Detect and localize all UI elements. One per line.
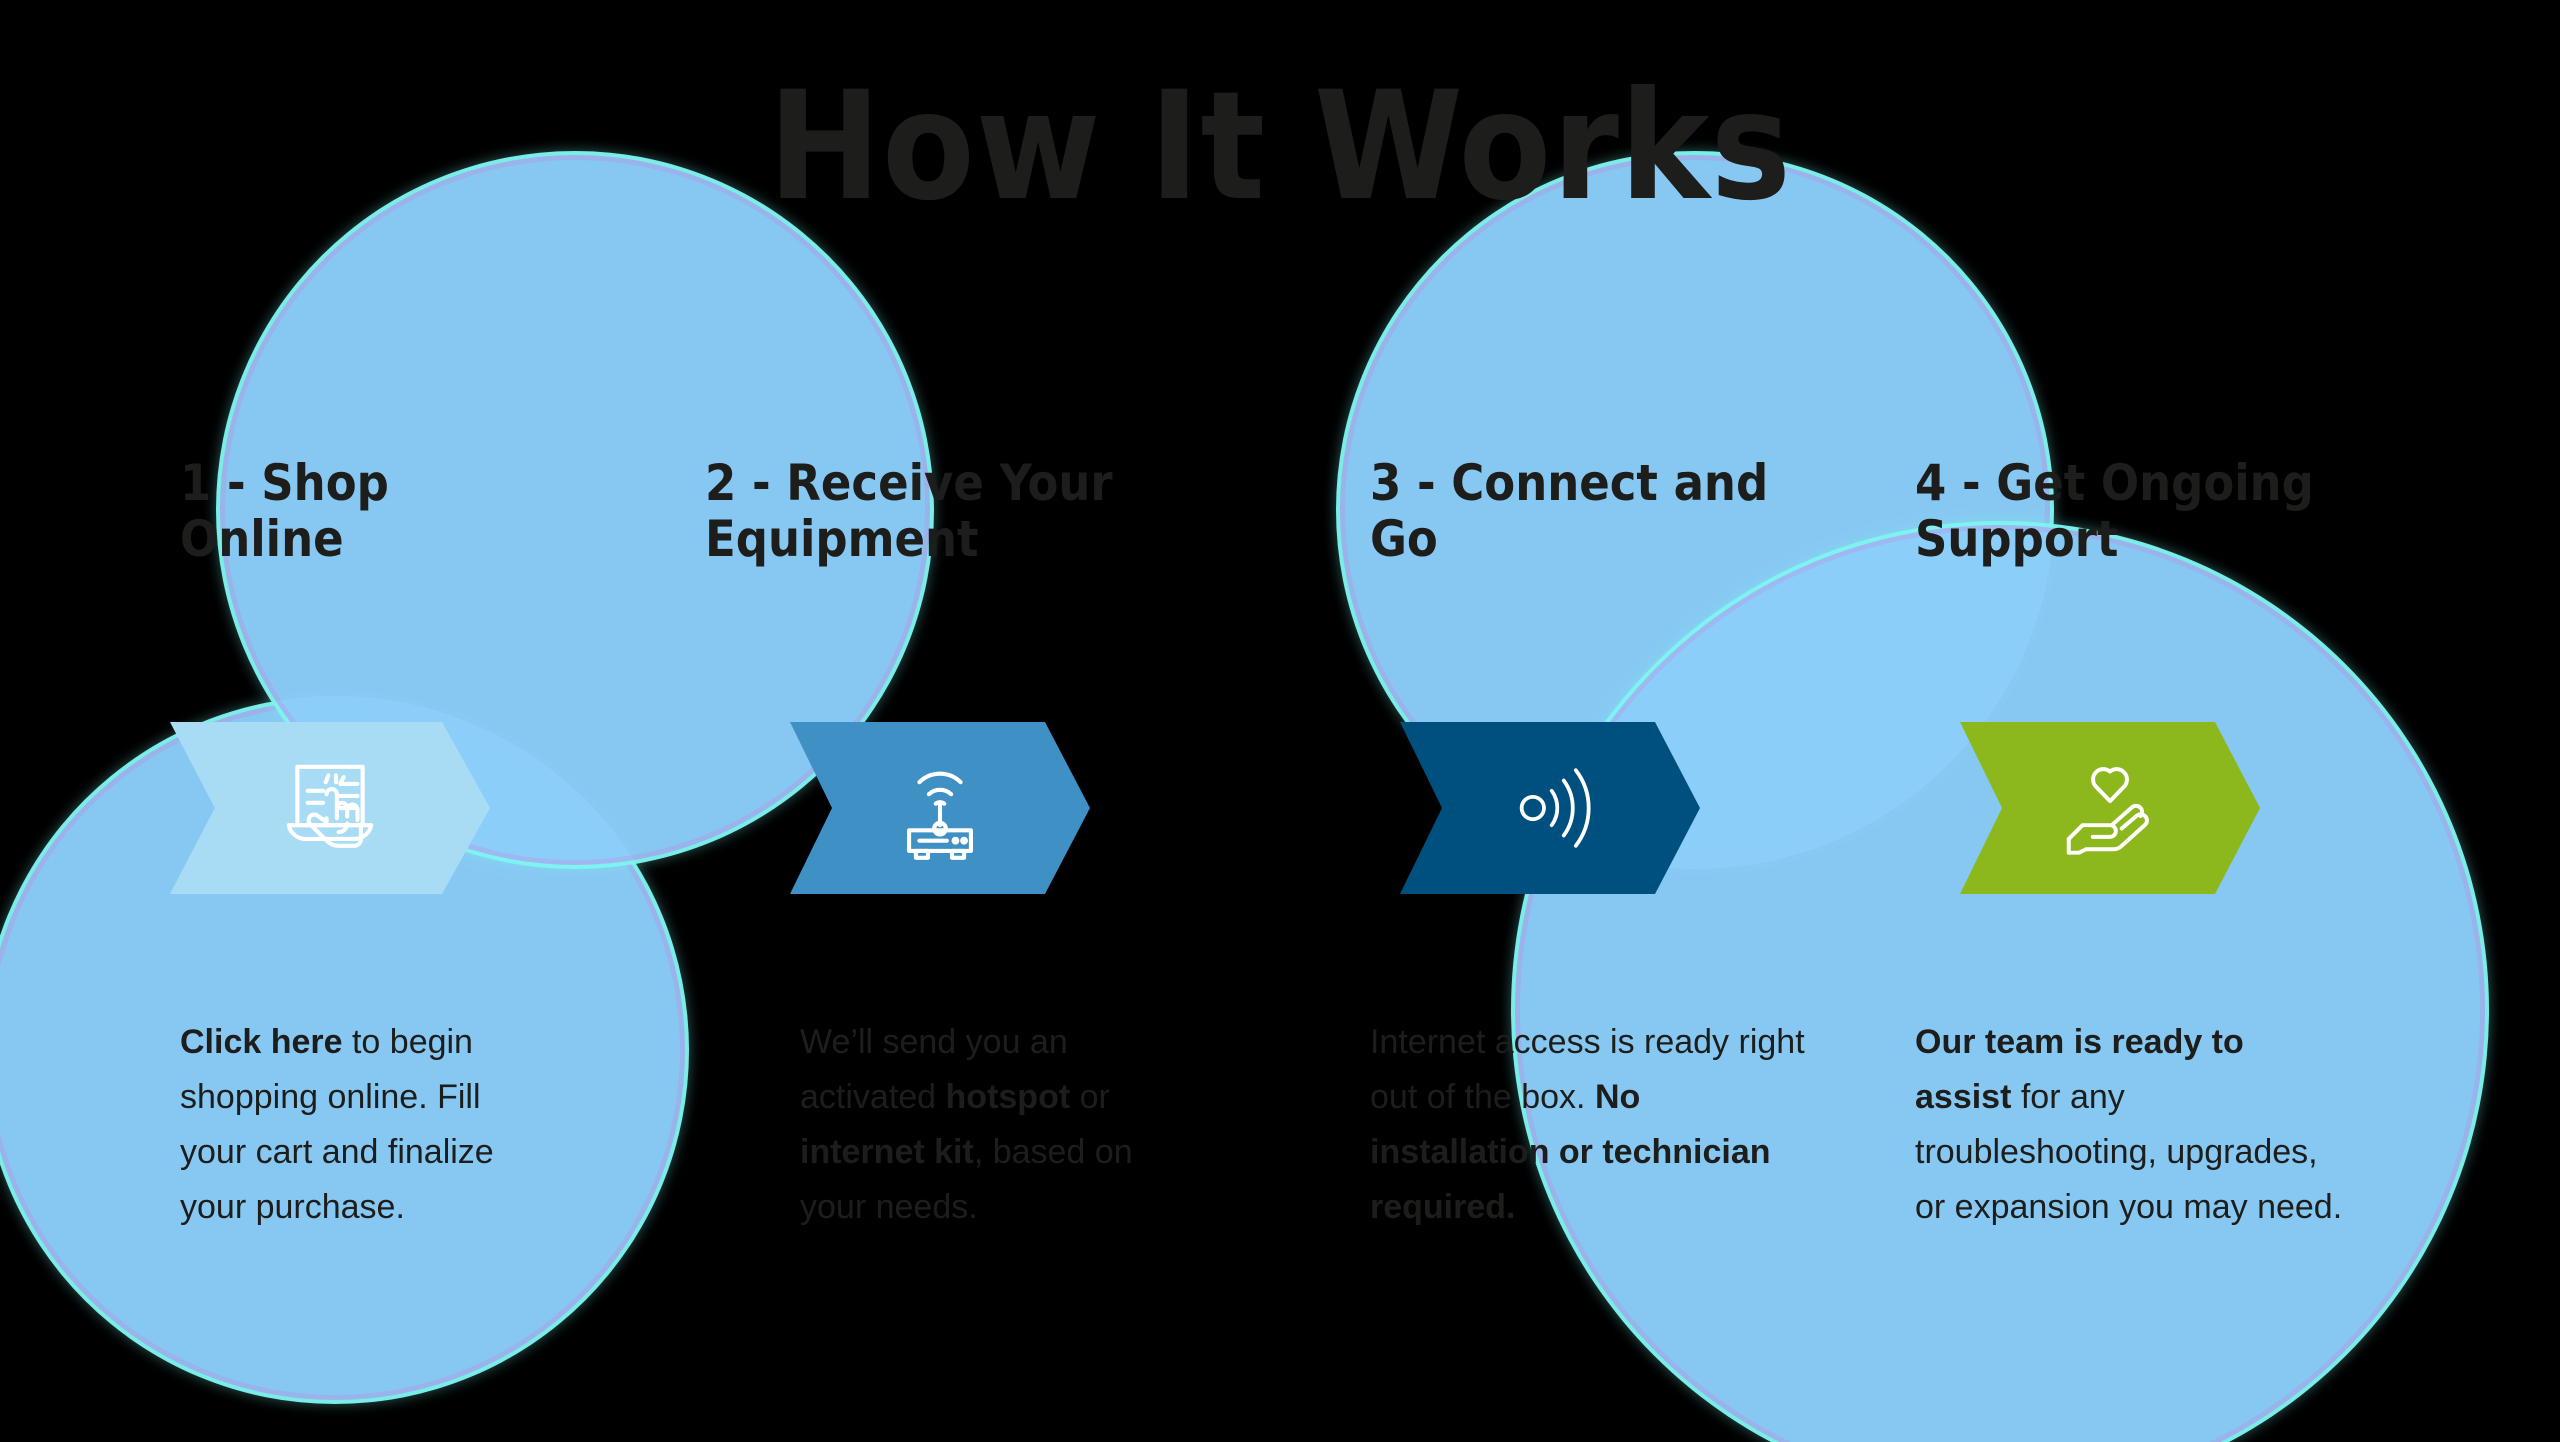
step-2-banner (790, 722, 1090, 894)
step-column-2: 2 - Receive Your Equipment We’l (620, 0, 1240, 1442)
step-1-body: Click here to begin shopping online. Fil… (180, 1015, 530, 1235)
wifi-router-icon (885, 753, 995, 863)
hand-heart-icon (2055, 753, 2165, 863)
step-column-4: 4 - Get Ongoing Support Our team is read… (1800, 0, 2560, 1442)
step-column-1: 1 - Shop Online (0, 0, 620, 1442)
step-3-title: 3 - Connect and Go (1370, 455, 1770, 567)
step-3-body: Internet access is ready right out of th… (1370, 1015, 1810, 1235)
click-document-icon (275, 753, 385, 863)
step-2-body: We’ll send you an activated hotspot or i… (800, 1015, 1160, 1235)
step-column-3: 3 - Connect and Go Internet access is re… (1240, 0, 1800, 1442)
step-2-title: 2 - Receive Your Equipment (705, 455, 1185, 567)
broadcast-signal-icon (1495, 753, 1605, 863)
step-4-banner (1960, 722, 2260, 894)
infographic-canvas: How It Works 1 - Shop Online (0, 0, 2560, 1442)
step-4-body: Our team is ready to assist for any trou… (1915, 1015, 2345, 1235)
step-3-banner (1400, 722, 1700, 894)
step-1-banner (170, 722, 490, 894)
step-1-title: 1 - Shop Online (180, 455, 510, 567)
step-4-title: 4 - Get Ongoing Support (1915, 455, 2415, 567)
